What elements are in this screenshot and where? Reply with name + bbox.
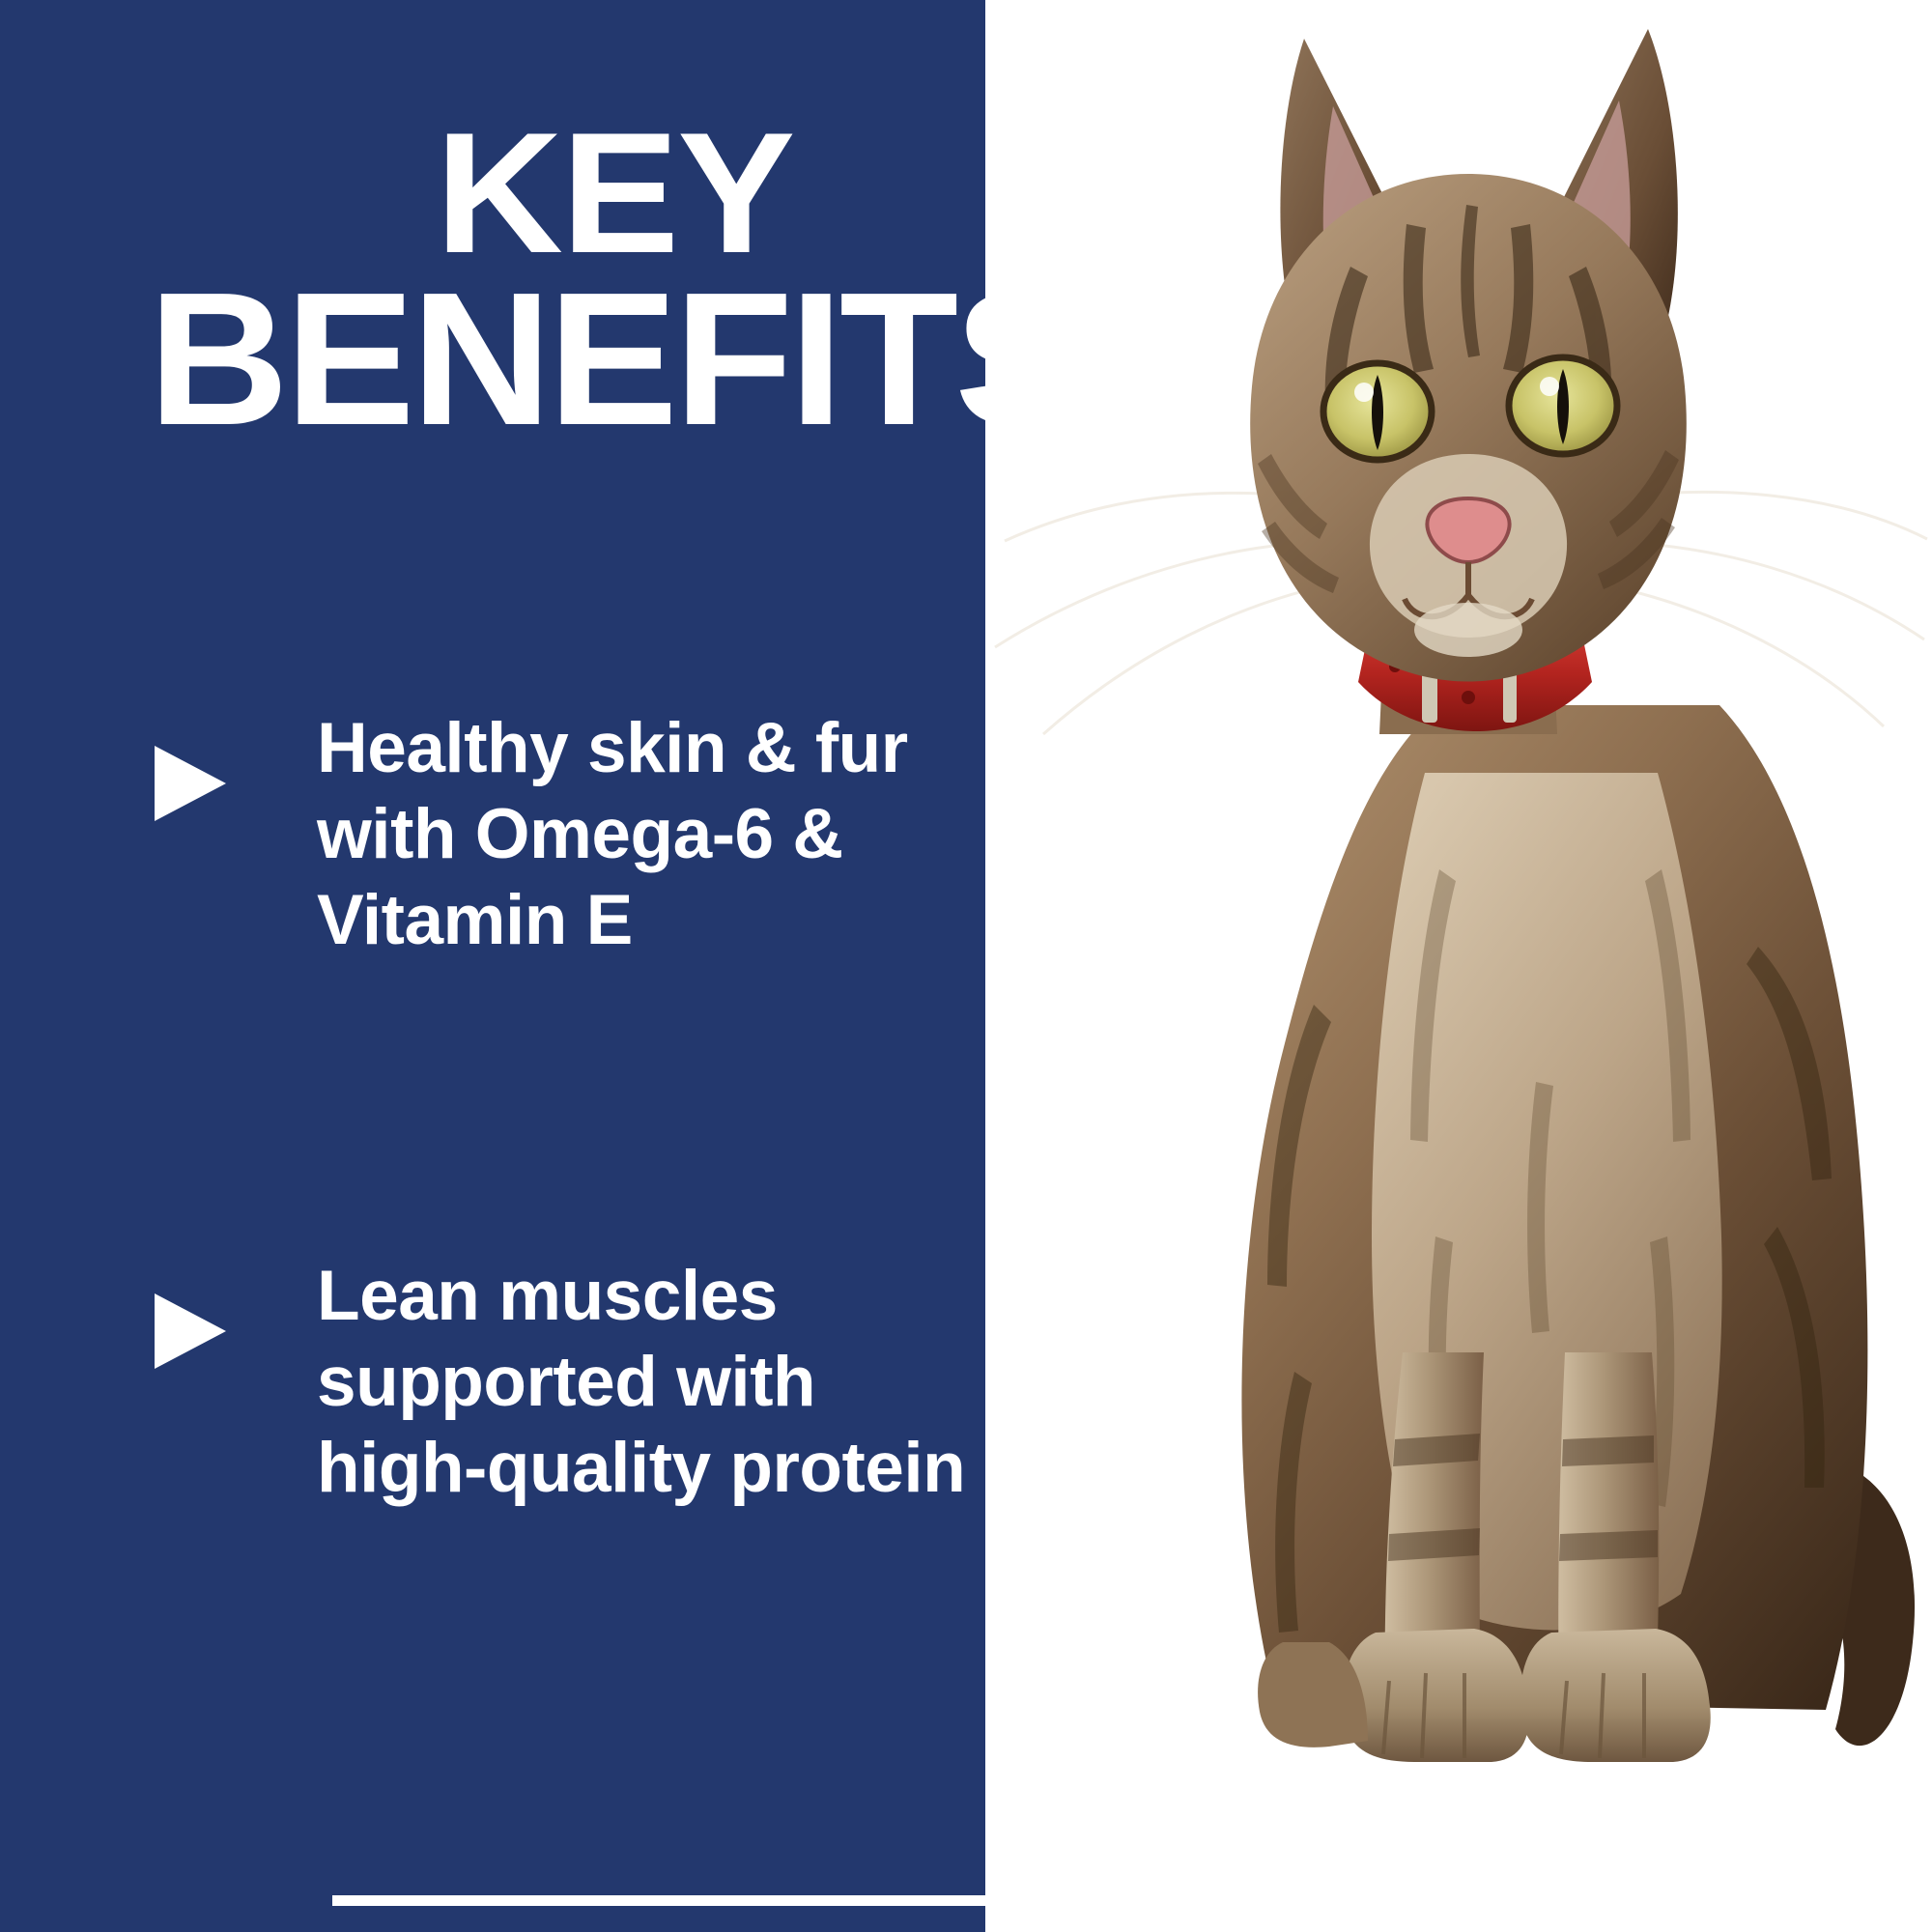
benefit-1-line-3: Vitamin E <box>317 877 908 963</box>
benefit-1-line-1: Healthy skin & fur <box>317 705 908 791</box>
cat-eye-right <box>1509 357 1617 454</box>
benefit-item-2-text: Lean muscles supported with high-quality… <box>317 1253 965 1511</box>
benefit-2-line-1: Lean muscles <box>317 1253 965 1339</box>
cat-chin <box>1414 603 1522 657</box>
benefit-item-1-text: Healthy skin & fur with Omega-6 & Vitami… <box>317 705 908 963</box>
benefit-2-line-3: high-quality protein <box>317 1425 965 1511</box>
cat-illustration <box>985 0 1932 1932</box>
cat-paw-right <box>1520 1629 1711 1762</box>
key-benefits-panel: KEY BENEFITS Healthy skin & fur with Ome… <box>0 0 1932 1932</box>
cat-eye-left <box>1323 363 1432 460</box>
triangle-bullet-icon <box>155 1293 226 1369</box>
cat-paw-left <box>1343 1629 1529 1762</box>
benefit-1-line-2: with Omega-6 & <box>317 791 908 877</box>
triangle-bullet-icon <box>155 746 226 821</box>
cat-photo <box>985 0 1932 1932</box>
benefit-2-line-2: supported with <box>317 1339 965 1425</box>
